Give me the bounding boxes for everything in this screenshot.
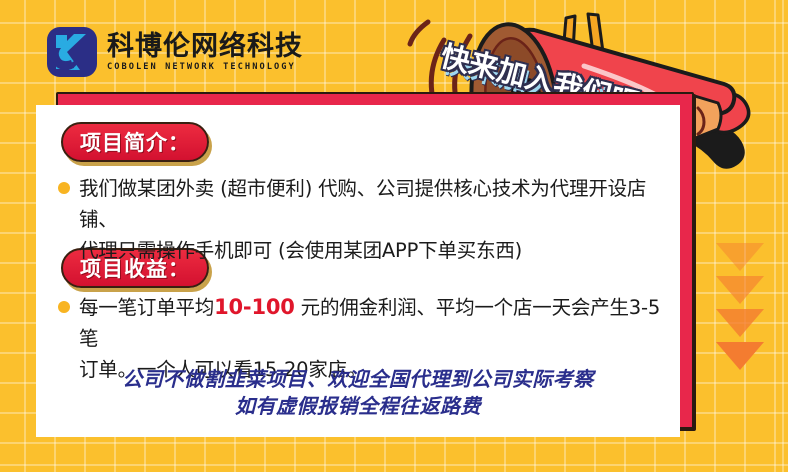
slogan-line-2: 如有虚假报销全程往返路费 bbox=[36, 393, 680, 420]
cobolen-k-logo-icon bbox=[46, 26, 98, 78]
chevron-down-arrow-icon bbox=[716, 342, 764, 370]
chevron-down-arrow-icon bbox=[716, 276, 764, 304]
slogan-line-1: 公司不做割韭菜项目、欢迎全国代理到公司实际考察 bbox=[36, 366, 680, 393]
section-heading-intro: 项目简介： bbox=[61, 122, 209, 162]
logo-wordmark: 科博伦网络科技 COBOLEN NETWORK TECHNOLOGY bbox=[107, 33, 303, 72]
intro-paragraph: 我们做某团外卖 (超市便利) 代购、公司提供核心技术为代理开设店铺、 代理只需操… bbox=[58, 173, 678, 266]
intro-line-2: 代理只需操作手机即可 (会使用某团APP下单买东西) bbox=[79, 235, 678, 266]
bullet-dot-icon bbox=[58, 301, 70, 313]
section-heading-intro-label: 项目简介： bbox=[80, 127, 190, 157]
intro-paragraph-text: 我们做某团外卖 (超市便利) 代购、公司提供核心技术为代理开设店铺、 代理只需操… bbox=[79, 173, 678, 266]
logo-company-name-en: COBOLEN NETWORK TECHNOLOGY bbox=[107, 63, 307, 72]
bullet-dot-icon bbox=[58, 182, 70, 194]
profit-amount-highlight: 10-100 bbox=[214, 295, 295, 319]
intro-line-1: 我们做某团外卖 (超市便利) 代购、公司提供核心技术为代理开设店铺、 bbox=[79, 173, 678, 235]
chevron-down-arrow-icon bbox=[716, 309, 764, 337]
company-logo: 科博伦网络科技 COBOLEN NETWORK TECHNOLOGY bbox=[46, 26, 303, 78]
footer-slogan: 公司不做割韭菜项目、欢迎全国代理到公司实际考察 如有虚假报销全程往返路费 bbox=[36, 366, 680, 420]
logo-company-name-cn: 科博伦网络科技 bbox=[107, 33, 303, 60]
promo-poster: 科博伦网络科技 COBOLEN NETWORK TECHNOLOGY bbox=[0, 0, 788, 472]
down-arrow-stack bbox=[716, 243, 764, 370]
profit-line-1-pre: 每一笔订单平均 bbox=[79, 296, 214, 319]
chevron-down-arrow-icon bbox=[716, 243, 764, 271]
profit-line-1: 每一笔订单平均10-100 元的佣金利润、平均一个店一天会产生3-5笔 bbox=[79, 292, 678, 354]
